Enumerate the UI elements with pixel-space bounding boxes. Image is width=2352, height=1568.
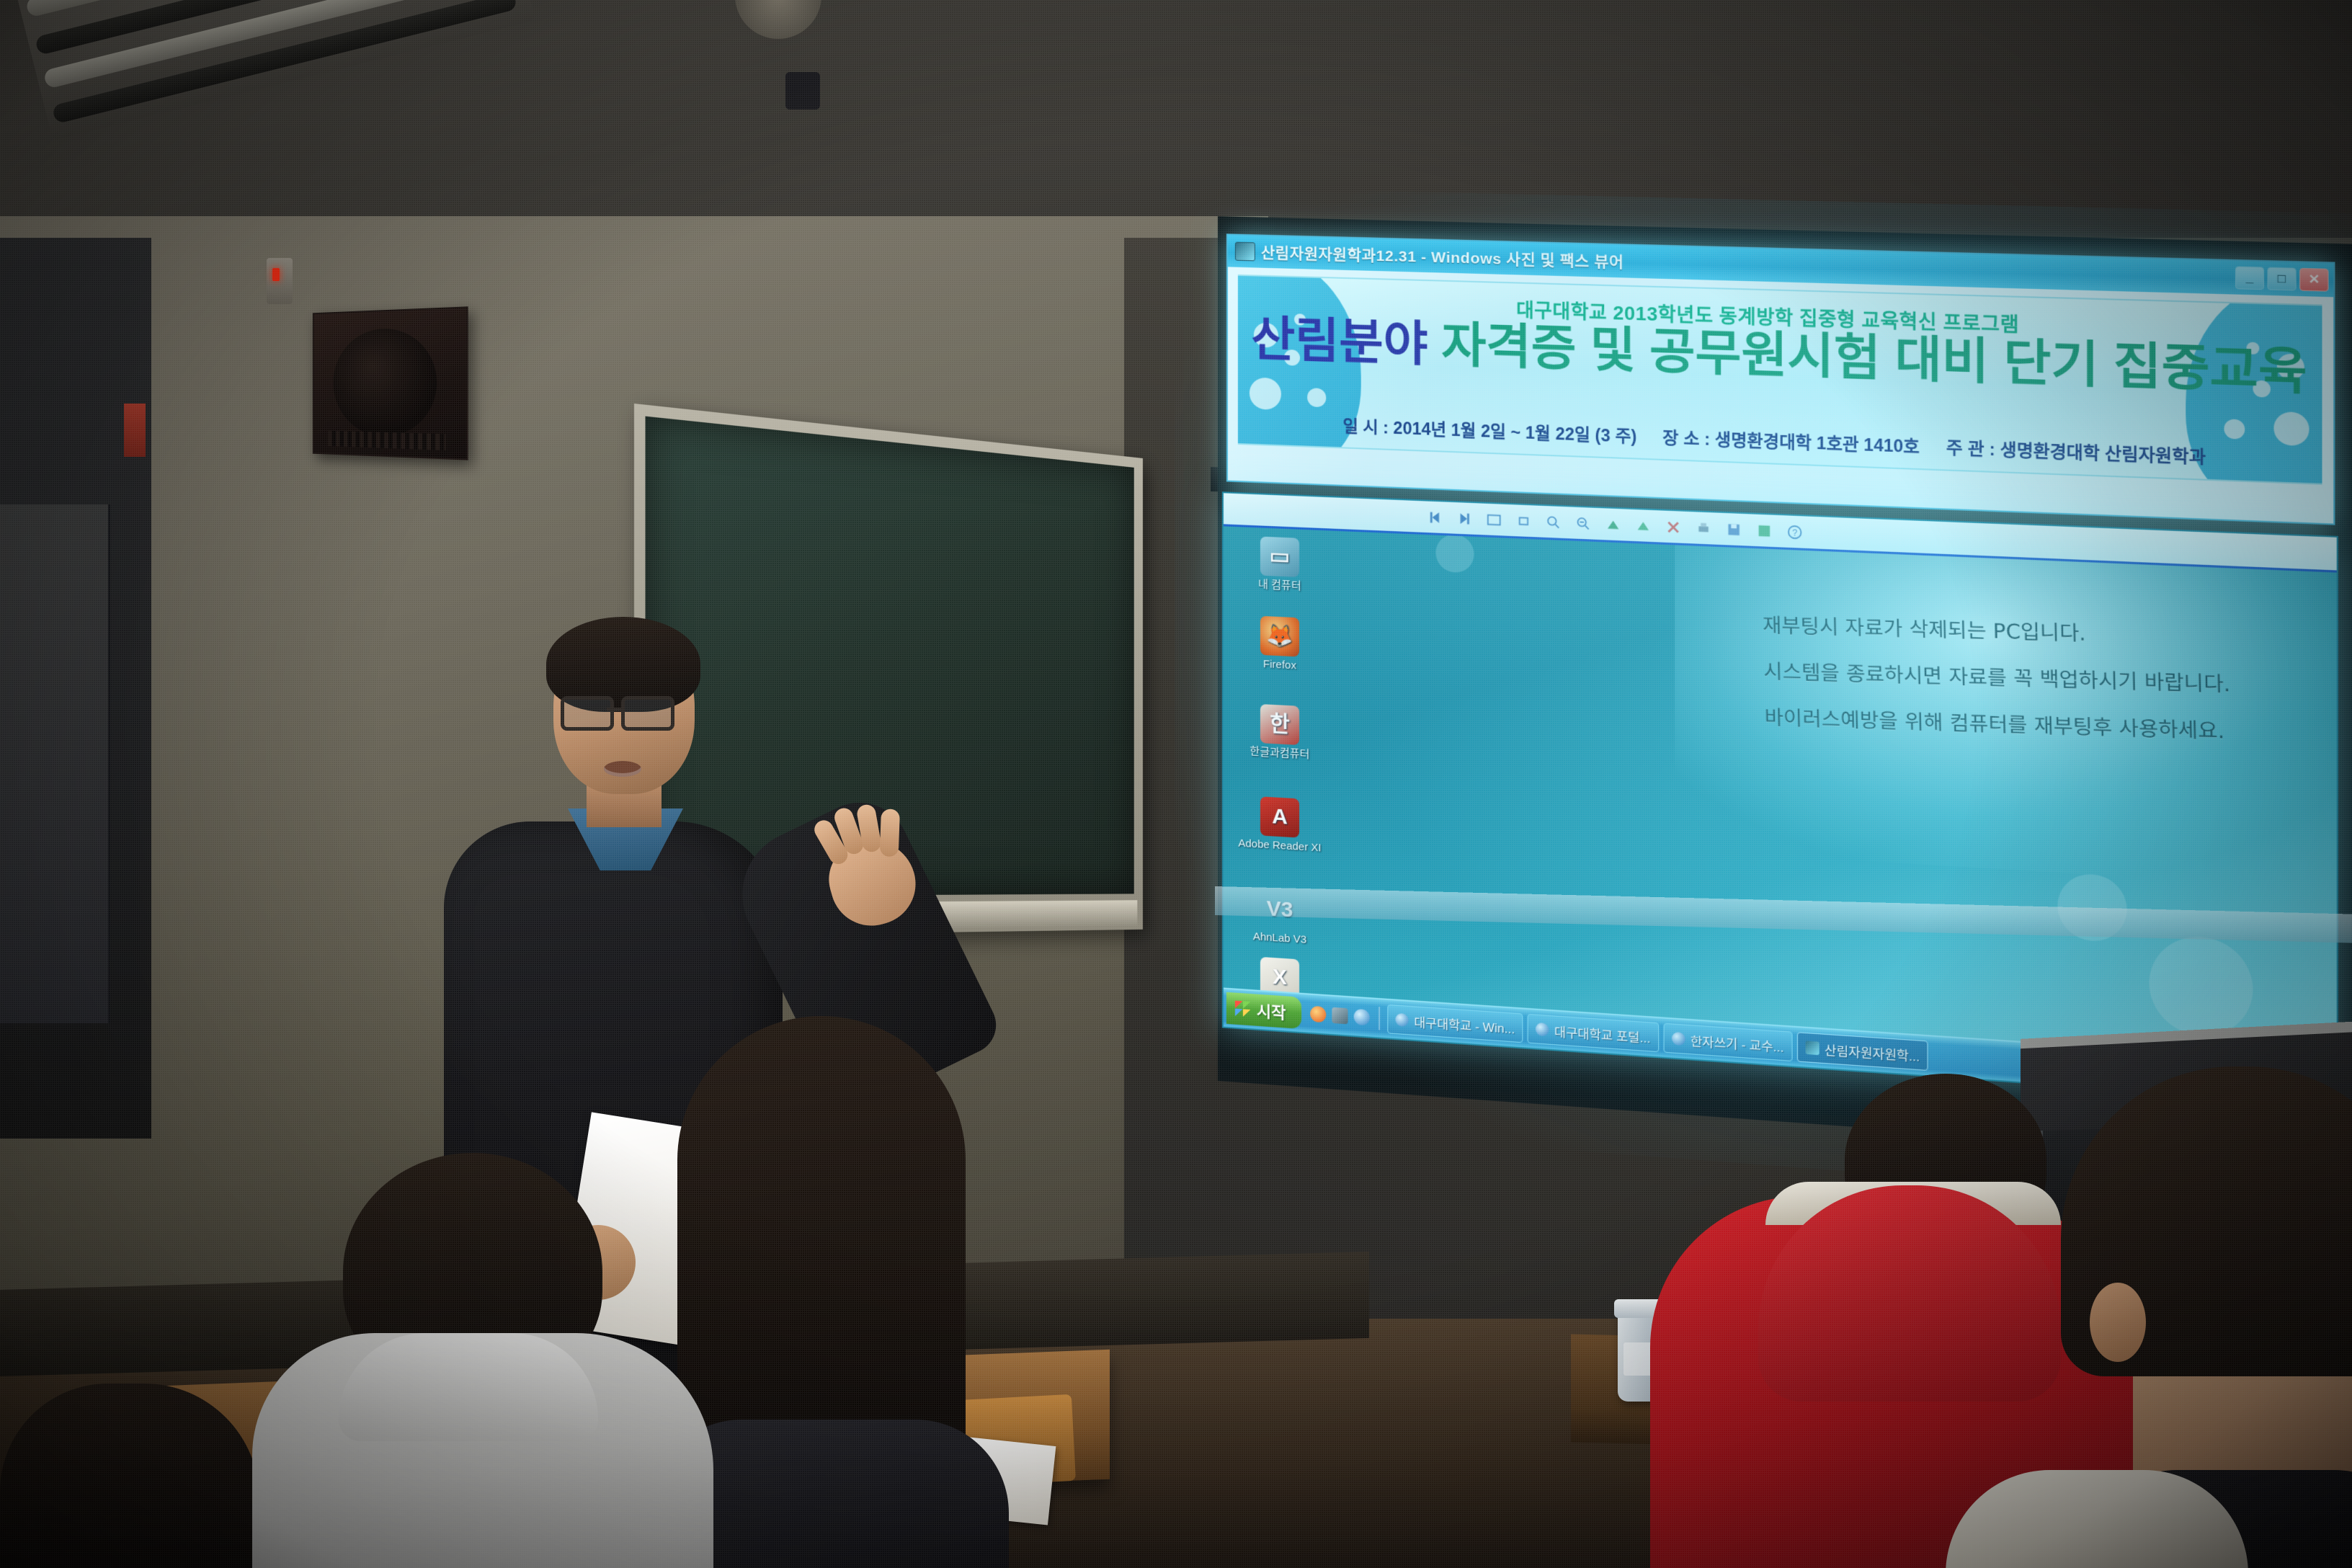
rotate-right-icon[interactable] [1635,517,1652,534]
zoom-out-icon[interactable] [1575,514,1592,531]
student-foreground-right [2046,1066,2352,1568]
print-icon[interactable] [1696,520,1712,537]
alarm-sensor-icon [267,258,293,304]
start-button[interactable]: 시작 [1226,992,1302,1029]
minimize-button[interactable]: _ [2235,266,2264,290]
delete-icon[interactable] [1665,518,1682,535]
wall-speaker [313,306,468,460]
taskbar-button-active[interactable]: 산림자원자원학... [1797,1032,1928,1071]
actual-size-icon[interactable] [1515,512,1532,529]
wall-panel [0,504,110,1023]
speaker-cone-icon [333,327,437,438]
taskbar-button-label: 산림자원자원학... [1825,1039,1920,1064]
desktop-icon-label: 내 컴퓨터 [1258,578,1301,592]
event-banner: 대구대학교 2013학년도 동계방학 집중형 교육혁신 프로그램 산림분야 자격… [1238,275,2322,485]
desktop-icon-label: 한글과컴퓨터 [1250,745,1310,761]
help-icon[interactable]: ? [1786,523,1803,540]
internet-explorer-icon [1672,1032,1685,1046]
desktop-icon-label: Firefox [1263,658,1296,672]
eyeglasses-bridge [607,708,623,711]
student-ear [2090,1283,2146,1362]
save-as-icon[interactable] [1726,521,1742,538]
taskbar-button-label: 한자쓰기 - 교수... [1690,1030,1784,1056]
ceiling-dome-light [735,0,821,39]
banner-info-date: 일 시 : 2014년 1월 2일 ~ 1월 22일 (3 주) [1342,416,1636,446]
banner-title-part1: 산림분야 [1251,311,1441,371]
fire-sign-icon [124,404,146,457]
photo-viewer-icon [1235,242,1255,262]
svg-text:?: ? [1792,527,1797,538]
speaker-grille [328,431,445,450]
my-computer-icon: ▭ [1260,536,1299,577]
adobe-reader-icon: A [1260,796,1299,837]
next-image-icon[interactable] [1456,510,1473,527]
ceiling-sensor-icon [785,72,820,110]
rotate-left-icon[interactable] [1605,516,1621,533]
student-gray-hoodie [209,1153,728,1568]
fluorescent-light-fixture [22,0,551,146]
firefox-icon[interactable] [1311,1006,1327,1023]
quick-launch-bar[interactable] [1302,1005,1379,1026]
best-fit-icon[interactable] [1486,511,1502,527]
photo-viewer-icon [1805,1041,1819,1055]
taskbar-button[interactable]: 한자쓰기 - 교수... [1663,1023,1792,1061]
firefox-icon: 🦊 [1260,616,1299,657]
eyeglasses-icon [621,696,674,731]
desktop-icon-my-computer[interactable]: ▭ 내 컴퓨터 [1237,535,1323,594]
maximize-button[interactable]: □ [2267,267,2296,291]
classroom-photo-scene: 산림자원자원학과12.31 - Windows 사진 및 팩스 뷰어 _ □ ✕ [0,0,2352,1568]
banner-info-host: 주 관 : 생명환경대학 산림자원학과 [1946,438,2206,467]
media-player-icon[interactable] [1332,1007,1348,1025]
taskbar-button-label: 대구대학교 - Win... [1414,1012,1515,1037]
internet-explorer-icon [1396,1013,1409,1027]
desktop-icon-label: AhnLab V3 [1253,930,1306,946]
taskbar-button[interactable]: 대구대학교 - Win... [1388,1004,1523,1043]
banner-info-line: 일 시 : 2014년 1월 2일 ~ 1월 22일 (3 주) 장 소 : 생… [1238,409,2322,473]
alarm-led-indicator [272,268,280,281]
windows-desktop[interactable]: ? ▭ 내 컴퓨터 🦊 Firefox 한 한글과컴퓨터 A Adobe Rea… [1222,491,2338,1105]
ceiling [0,0,2352,238]
desktop-icon-firefox[interactable]: 🦊 Firefox [1237,615,1323,673]
photo-viewer-window[interactable]: 산림자원자원학과12.31 - Windows 사진 및 팩스 뷰어 _ □ ✕ [1226,233,2335,525]
internet-explorer-icon [1536,1023,1549,1037]
taskbar-button[interactable]: 대구대학교 포털... [1528,1014,1659,1052]
desktop-icon-adobe-reader[interactable]: A Adobe Reader XI [1237,795,1323,854]
banner-info-place: 장 소 : 생명환경대학 1호관 1410호 [1662,428,1920,457]
whiteboard-handwritten-note: 재부팅시 자료가 삭제되는 PC입니다. 시스템을 종료하시면 자료를 꼭 백업… [1762,603,2306,759]
hangul-office-icon: 한 [1260,704,1299,745]
taskbar-button-label: 대구대학교 포털... [1554,1021,1650,1046]
desktop-icon-hangul[interactable]: 한 한글과컴퓨터 [1237,703,1323,762]
internet-explorer-icon[interactable] [1354,1009,1370,1026]
eyeglasses-icon [561,696,614,731]
zoom-in-icon[interactable] [1545,514,1562,530]
start-button-label: 시작 [1257,999,1286,1024]
viewer-image-area: 대구대학교 2013학년도 동계방학 집중형 교육혁신 프로그램 산림분야 자격… [1228,267,2333,523]
close-button[interactable]: ✕ [2299,268,2328,292]
previous-image-icon[interactable] [1427,509,1443,525]
windows-flag-icon [1235,1001,1251,1018]
projected-screen: 산림자원자원학과12.31 - Windows 사진 및 팩스 뷰어 _ □ ✕ [1218,216,2352,1168]
student-hood [339,1333,598,1441]
edit-image-icon[interactable] [1756,522,1773,540]
lecturer-mouth [604,761,641,777]
window-controls[interactable]: _ □ ✕ [2235,266,2329,291]
desktop-icon-label: Adobe Reader XI [1238,837,1321,855]
